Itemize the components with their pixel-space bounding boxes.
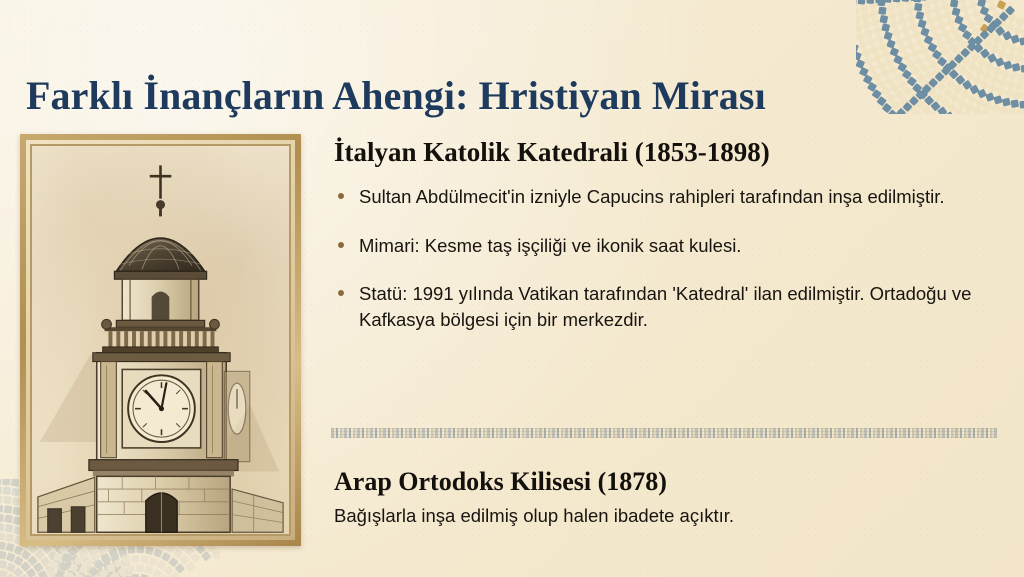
bullet-dot-icon	[338, 242, 344, 248]
section-2-heading: Arap Ortodoks Kilisesi (1878)	[334, 466, 998, 497]
illustration-mat	[30, 144, 291, 536]
bullet-item-2: Mimari: Kesme taş işçiliği ve ikonik saa…	[334, 233, 998, 259]
section-1-heading: İtalyan Katolik Katedrali (1853-1898)	[334, 136, 998, 168]
bullet-item-3: Statü: 1991 yılında Vatikan tarafından '…	[334, 281, 998, 334]
mosaic-top-right-decoration	[856, 0, 1024, 114]
content-column: İtalyan Katolik Katedrali (1853-1898) Su…	[334, 136, 998, 333]
illustration-frame-inner	[26, 140, 295, 540]
illustration-frame	[20, 134, 301, 546]
bullet-text-1: Sultan Abdülmecit'in izniyle Capucins ra…	[359, 186, 945, 207]
cross-finial	[150, 165, 172, 198]
section-1-bullet-list: Sultan Abdülmecit'in izniyle Capucins ra…	[334, 184, 998, 333]
bullet-text-2: Mimari: Kesme taş işçiliği ve ikonik saa…	[359, 235, 741, 256]
bullet-item-1: Sultan Abdülmecit'in izniyle Capucins ra…	[334, 184, 998, 210]
section-2-text: Bağışlarla inşa edilmiş olup halen ibade…	[334, 503, 998, 529]
cathedral-clock-tower-illustration	[32, 146, 289, 534]
mosaic-divider	[331, 428, 997, 438]
slide-canvas: Farklı İnançların Ahengi: Hristiyan Mira…	[0, 0, 1024, 577]
bullet-dot-icon	[338, 193, 344, 199]
section-2-block: Arap Ortodoks Kilisesi (1878) Bağışlarla…	[334, 466, 998, 529]
slide-title: Farklı İnançların Ahengi: Hristiyan Mira…	[26, 74, 766, 119]
bullet-text-3: Statü: 1991 yılında Vatikan tarafından '…	[359, 283, 971, 330]
bullet-dot-icon	[338, 290, 344, 296]
